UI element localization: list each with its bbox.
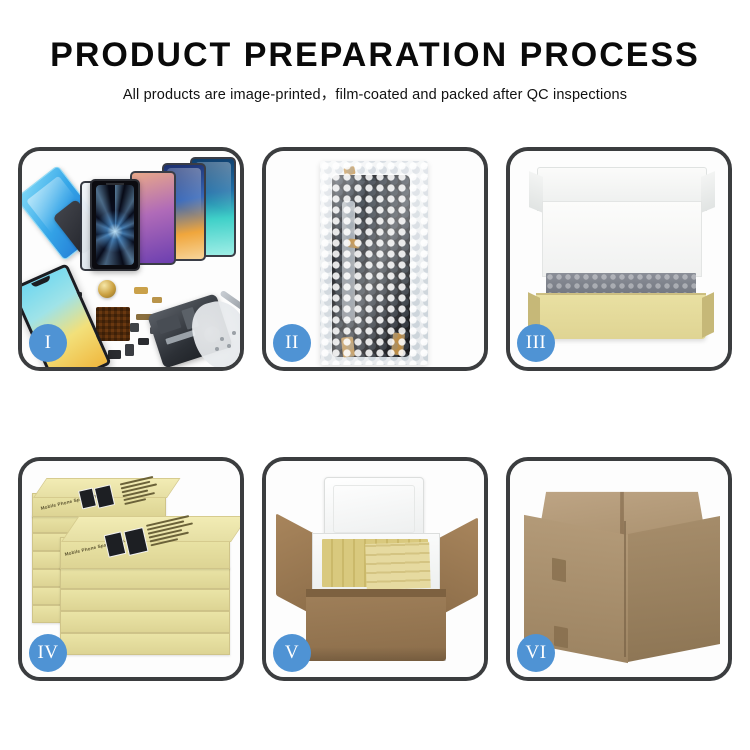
connector-component — [152, 297, 162, 303]
coil-component — [98, 280, 116, 298]
page-subtitle: All products are image-printed，film-coat… — [0, 83, 750, 104]
step-badge-5: V — [273, 634, 311, 672]
box-tray-yellow — [536, 295, 706, 339]
process-steps-grid: I II — [18, 147, 732, 681]
connector-component — [134, 287, 148, 294]
stacked-boxes: Mobile Phone Spare Parts — [30, 475, 236, 665]
step-panel-4: Mobile Phone Spare Parts — [18, 457, 244, 681]
chip-component — [138, 338, 149, 345]
carton-body — [306, 589, 446, 661]
carton-corner-seam — [624, 521, 626, 657]
foam-sheet — [542, 201, 702, 277]
box-layer — [60, 633, 230, 655]
step-badge-6: VI — [517, 634, 555, 672]
yellow-boxes-inside — [322, 539, 428, 587]
open-carton-with-foam — [276, 477, 478, 667]
step-panel-2: II — [262, 147, 488, 371]
step-panel-5: V — [262, 457, 488, 681]
circuit-board-component — [96, 307, 130, 341]
step-badge-2: II — [273, 324, 311, 362]
step-badge-3: III — [517, 324, 555, 362]
chip-component — [125, 344, 134, 356]
bubble-wrap-package — [320, 161, 428, 365]
chip-component — [130, 323, 139, 332]
step-panel-3: III — [506, 147, 732, 371]
foam-lid — [324, 477, 424, 541]
tape-piece — [554, 626, 568, 649]
step-panel-1: I — [18, 147, 244, 371]
step-badge-4: IV — [29, 634, 67, 672]
box-layer — [60, 611, 230, 633]
screw-component — [220, 337, 224, 341]
product-preparation-infographic: PRODUCT PREPARATION PROCESS All products… — [0, 0, 750, 750]
screw-component — [232, 331, 236, 335]
plastic-sheen — [320, 161, 428, 365]
screw-component — [227, 344, 231, 348]
sealed-carton — [524, 481, 720, 661]
open-yellow-box — [528, 167, 714, 343]
tape-piece — [552, 558, 566, 583]
screw-component — [215, 347, 219, 351]
page-title: PRODUCT PREPARATION PROCESS — [0, 38, 750, 74]
chip-component — [108, 350, 121, 359]
header: PRODUCT PREPARATION PROCESS All products… — [0, 0, 750, 104]
carton-side-face — [628, 516, 720, 662]
box-layer — [60, 589, 230, 611]
step-panel-6: VI — [506, 457, 732, 681]
box-layer — [60, 567, 230, 589]
phone-dark-wallpaper — [90, 179, 140, 271]
step-badge-1: I — [29, 324, 67, 362]
